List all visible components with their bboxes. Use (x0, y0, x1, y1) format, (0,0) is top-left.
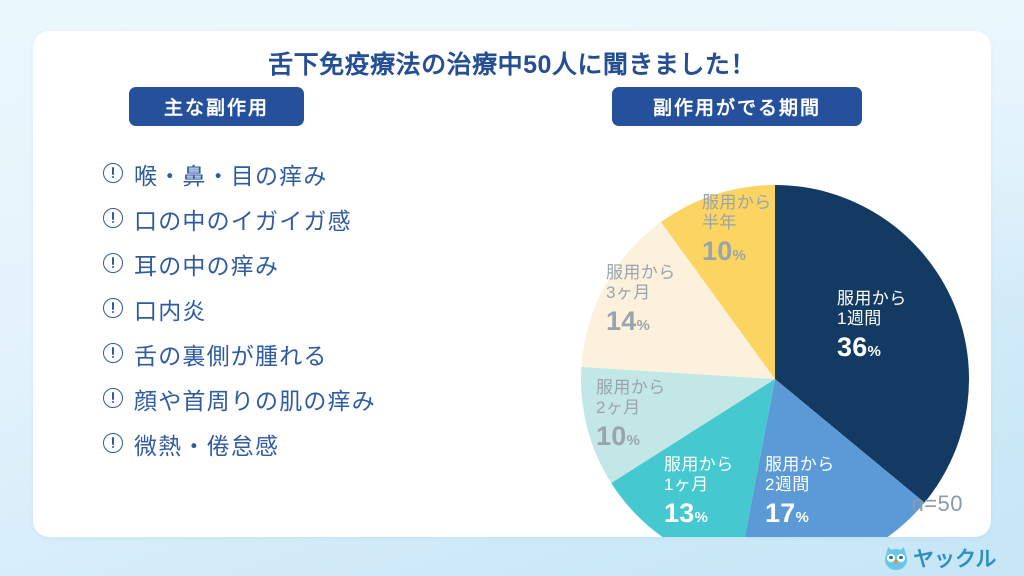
exclamation-circle-icon (103, 433, 125, 455)
side-effect-item-label: 喉・鼻・目の痒み (134, 157, 328, 191)
sample-size-note: n=50 (833, 491, 963, 517)
exclamation-circle-icon (103, 343, 125, 365)
duration-pie-chart: 服用から1週間36%服用から2週間17%服用から1ヶ月13%服用から2ヶ月10%… (580, 184, 970, 537)
owl-icon (884, 547, 908, 570)
exclamation-circle-icon (103, 163, 125, 185)
exclamation-circle-icon (103, 253, 125, 275)
exclamation-circle-icon (103, 208, 125, 230)
pie-svg (580, 184, 970, 537)
page-title: 舌下免疫療法の治療中50人に聞きました！ (33, 45, 991, 81)
side-effect-item: 顔や首周りの肌の痒み (103, 376, 523, 421)
section-header-duration-label: 副作用がでる期間 (653, 93, 821, 120)
content-card: 舌下免疫療法の治療中50人に聞きました！ 主な副作用 副作用がでる期間 喉・鼻・… (33, 31, 991, 537)
owl-beak (894, 560, 898, 565)
side-effect-item: 口内炎 (103, 286, 523, 331)
side-effect-item: 微熱・倦怠感 (103, 421, 523, 466)
slide-canvas: 舌下免疫療法の治療中50人に聞きました！ 主な副作用 副作用がでる期間 喉・鼻・… (0, 0, 1024, 576)
brand-logo[interactable]: ヤックル (884, 545, 996, 571)
pie-slice-group (581, 185, 969, 537)
owl-eye-right (897, 554, 905, 562)
side-effect-item: 耳の中の痒み (103, 241, 523, 286)
side-effect-item-label: 口内炎 (134, 292, 207, 326)
side-effect-item-label: 舌の裏側が腫れる (134, 337, 328, 371)
section-header-side-effects-label: 主な副作用 (164, 93, 269, 120)
side-effects-list: 喉・鼻・目の痒み口の中のイガイガ感耳の中の痒み口内炎舌の裏側が腫れる顔や首周りの… (103, 151, 523, 466)
side-effect-item-label: 微熱・倦怠感 (134, 427, 279, 461)
brand-name: ヤックル (913, 543, 996, 573)
side-effect-item-label: 顔や首周りの肌の痒み (134, 382, 376, 416)
section-header-duration: 副作用がでる期間 (612, 87, 862, 126)
exclamation-circle-icon (103, 298, 125, 320)
side-effect-item: 喉・鼻・目の痒み (103, 151, 523, 196)
side-effect-item: 舌の裏側が腫れる (103, 331, 523, 376)
side-effect-item-label: 耳の中の痒み (134, 247, 279, 281)
side-effect-item-label: 口の中のイガイガ感 (134, 202, 352, 236)
exclamation-circle-icon (103, 388, 125, 410)
section-header-side-effects: 主な副作用 (129, 87, 304, 126)
side-effect-item: 口の中のイガイガ感 (103, 196, 523, 241)
